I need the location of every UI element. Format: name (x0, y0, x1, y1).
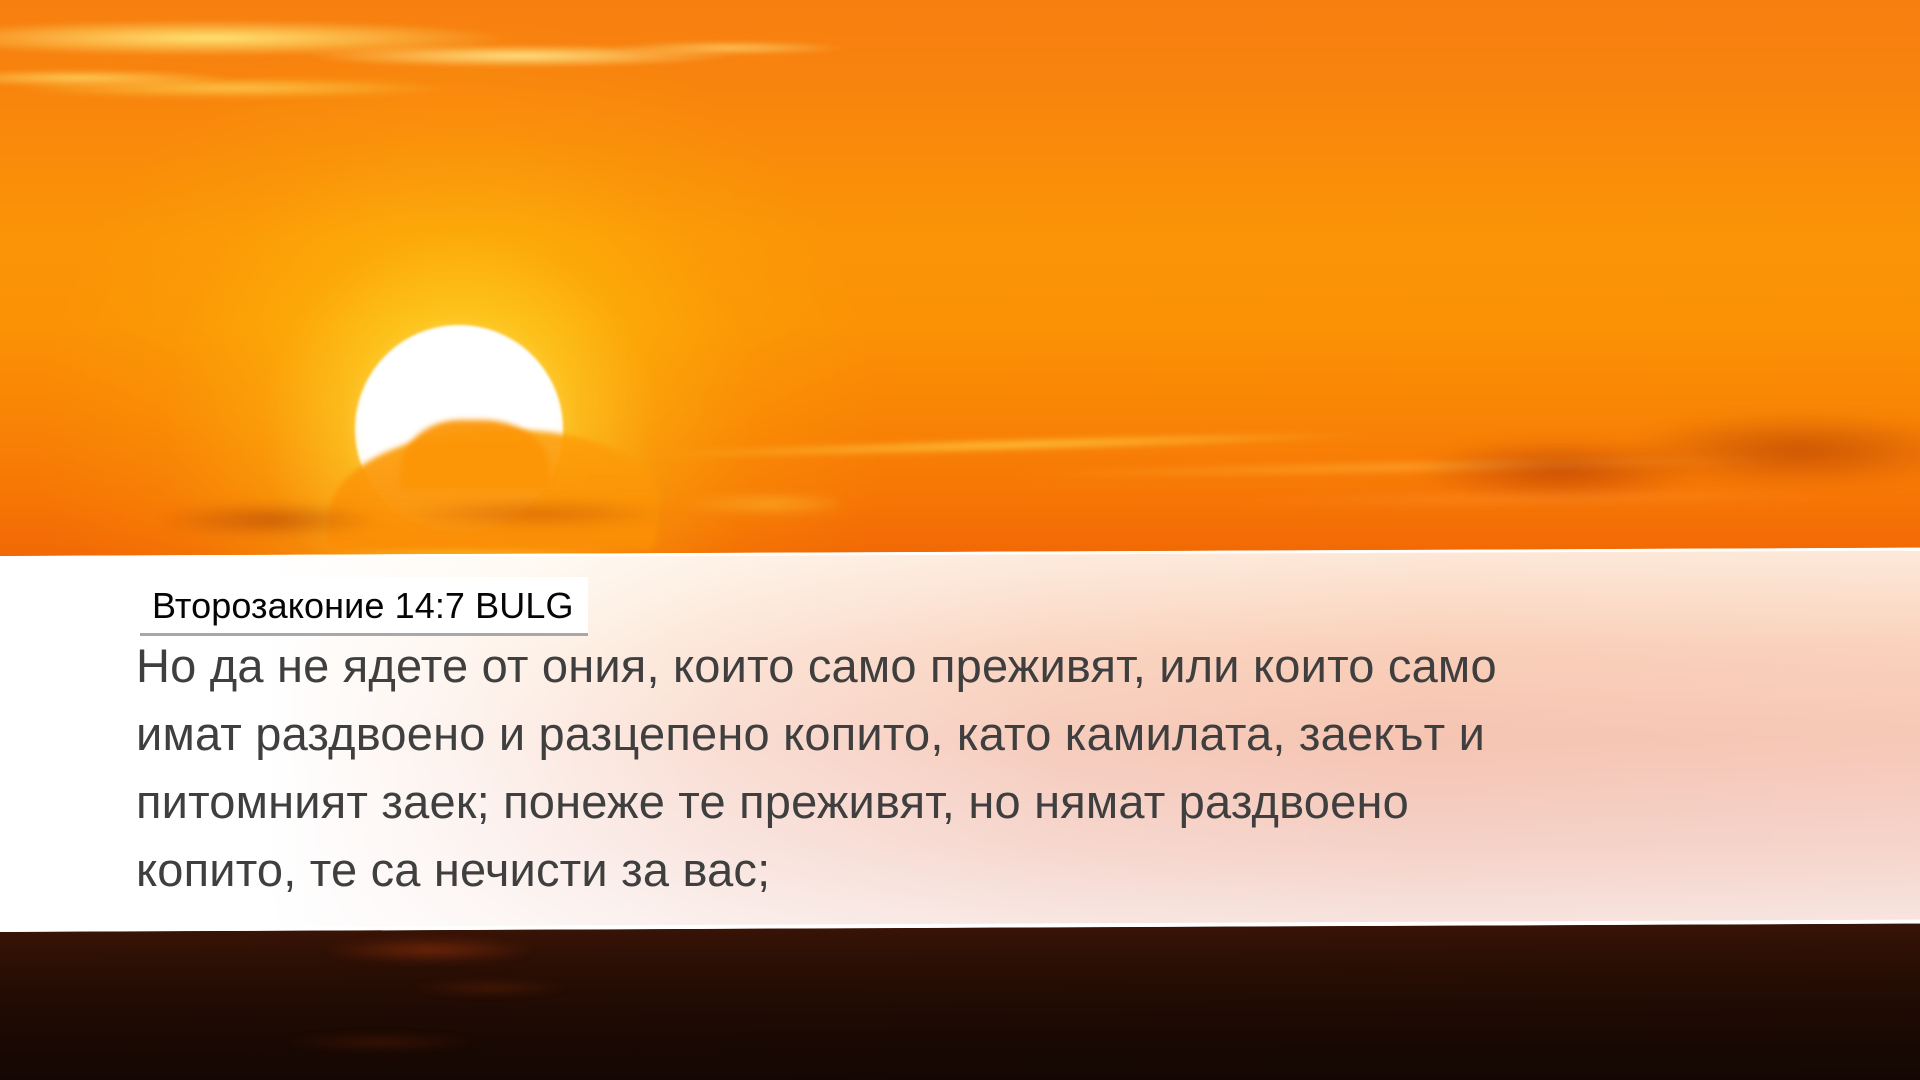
verse-line: питомният заек; понеже те преживят, но н… (136, 768, 1746, 836)
cloud-mass-right (1380, 390, 1920, 540)
verse-text-block: Но да не ядете от ония, които само прежи… (136, 632, 1746, 904)
sea-sun-reflection (250, 930, 810, 1080)
verse-line: имат раздвоено и разцепено копито, като … (136, 700, 1746, 768)
verse-slide: Второзаконие 14:7 BULG Но да не ядете от… (0, 0, 1920, 1080)
citation-container: Второзаконие 14:7 BULG (140, 577, 588, 636)
verse-line: копито, те са нечисти за вас; (136, 836, 1746, 904)
verse-line: Но да не ядете от ония, които само прежи… (136, 632, 1746, 700)
verse-content: Второзаконие 14:7 BULG Но да не ядете от… (0, 556, 1920, 932)
scripture-reference: Второзаконие 14:7 BULG (140, 577, 588, 636)
